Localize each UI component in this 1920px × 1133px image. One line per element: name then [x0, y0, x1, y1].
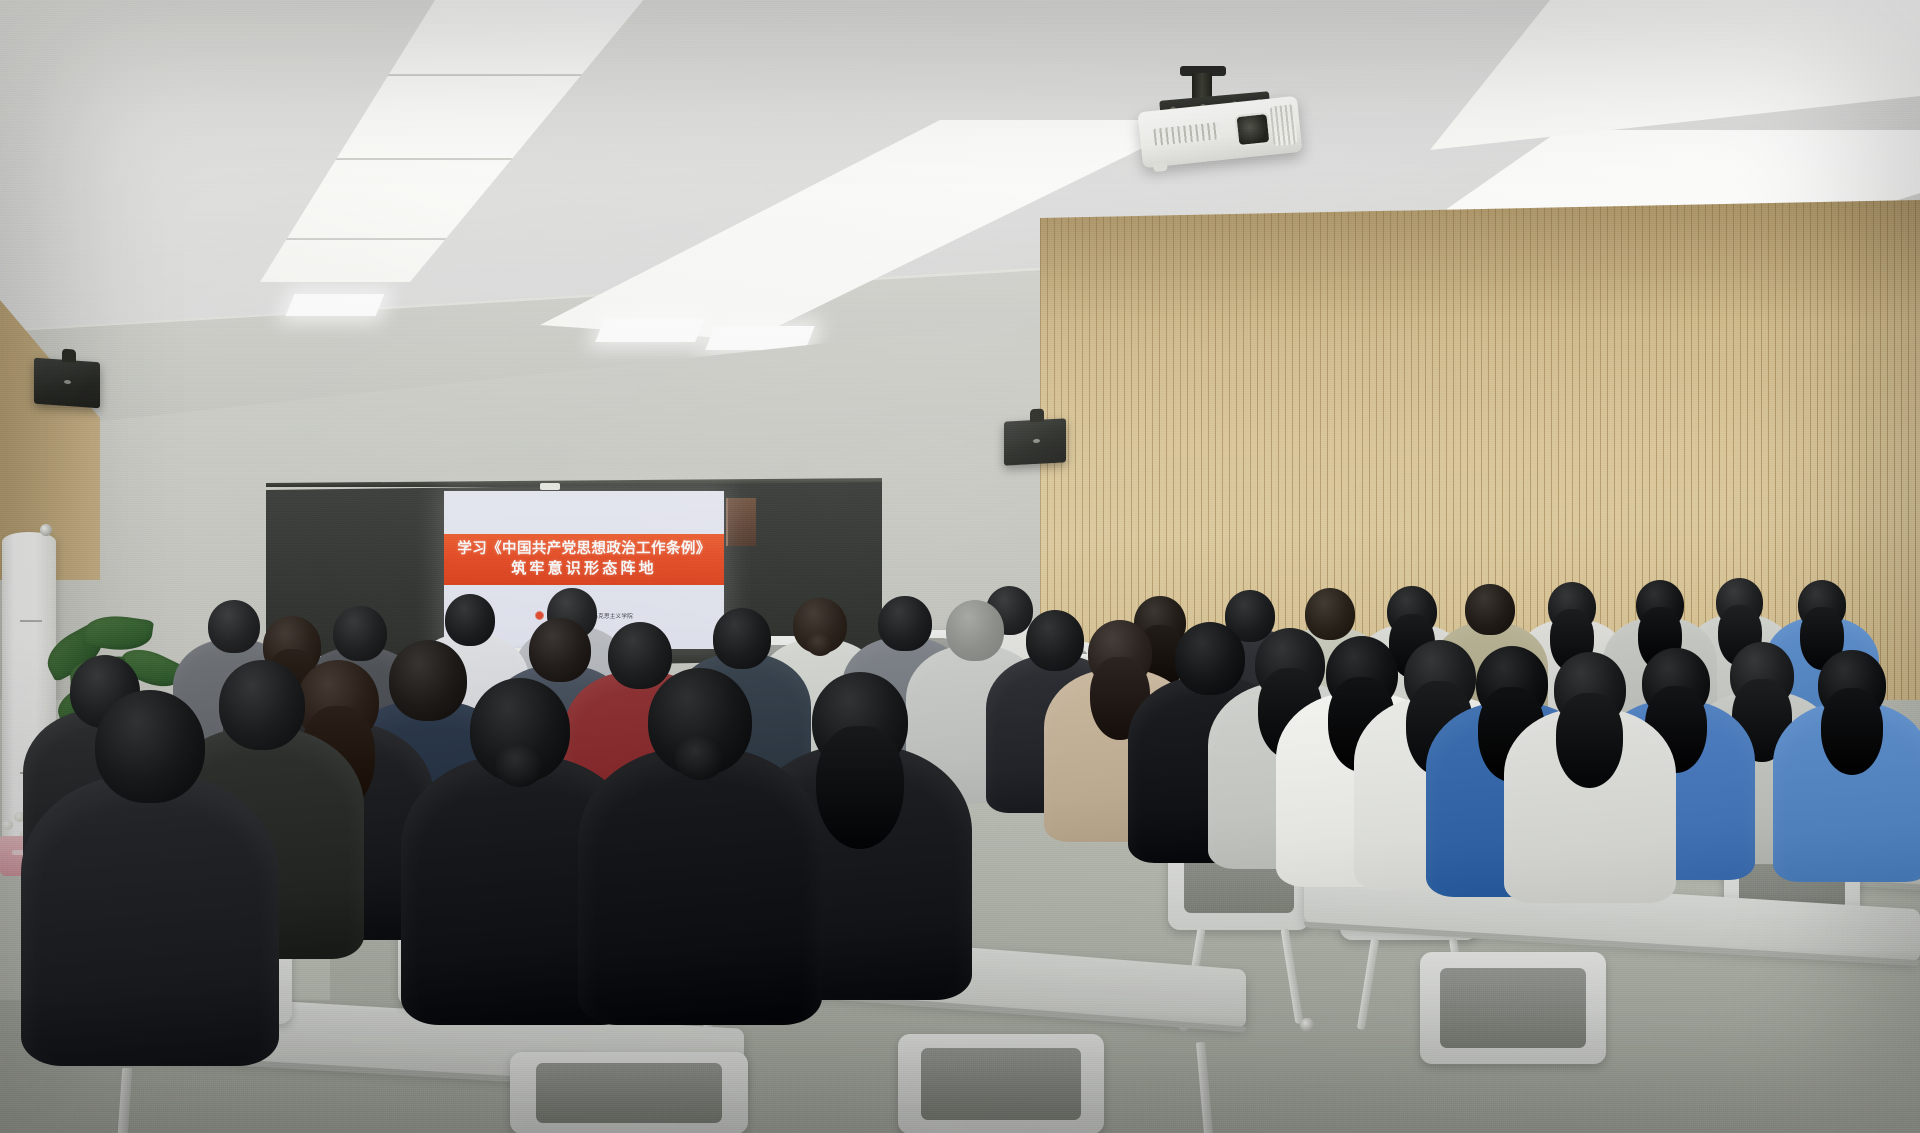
- seated-attendee: [21, 690, 278, 1096]
- attendee-head: [713, 608, 772, 669]
- seated-attendee: [1504, 652, 1676, 922]
- attendee-head: [1465, 584, 1514, 635]
- chair-caster: [1300, 1018, 1314, 1032]
- attendee-long-hair: [1821, 688, 1883, 775]
- attendee-hair-bun: [496, 743, 544, 787]
- attendee-torso: [21, 774, 278, 1067]
- audience: [0, 0, 1920, 1133]
- mesh-back-training-chair[interactable]: [510, 1052, 748, 1133]
- mesh-back-training-chair[interactable]: [898, 1034, 1104, 1133]
- attendee-long-hair: [1556, 693, 1623, 787]
- attendee-torso: [578, 747, 822, 1025]
- seated-attendee: [1773, 650, 1920, 900]
- attendee-hair-bun: [675, 735, 725, 781]
- attendee-long-hair: [816, 726, 904, 849]
- attendee-head: [95, 690, 204, 803]
- seated-attendee: [578, 668, 822, 1053]
- lecture-room-photo: 学习《中国共产党思想政治工作条例》 筑牢意识形态阵地 王智 南京师范大学 马克思…: [0, 0, 1920, 1133]
- mesh-back-training-chair[interactable]: [1420, 952, 1606, 1064]
